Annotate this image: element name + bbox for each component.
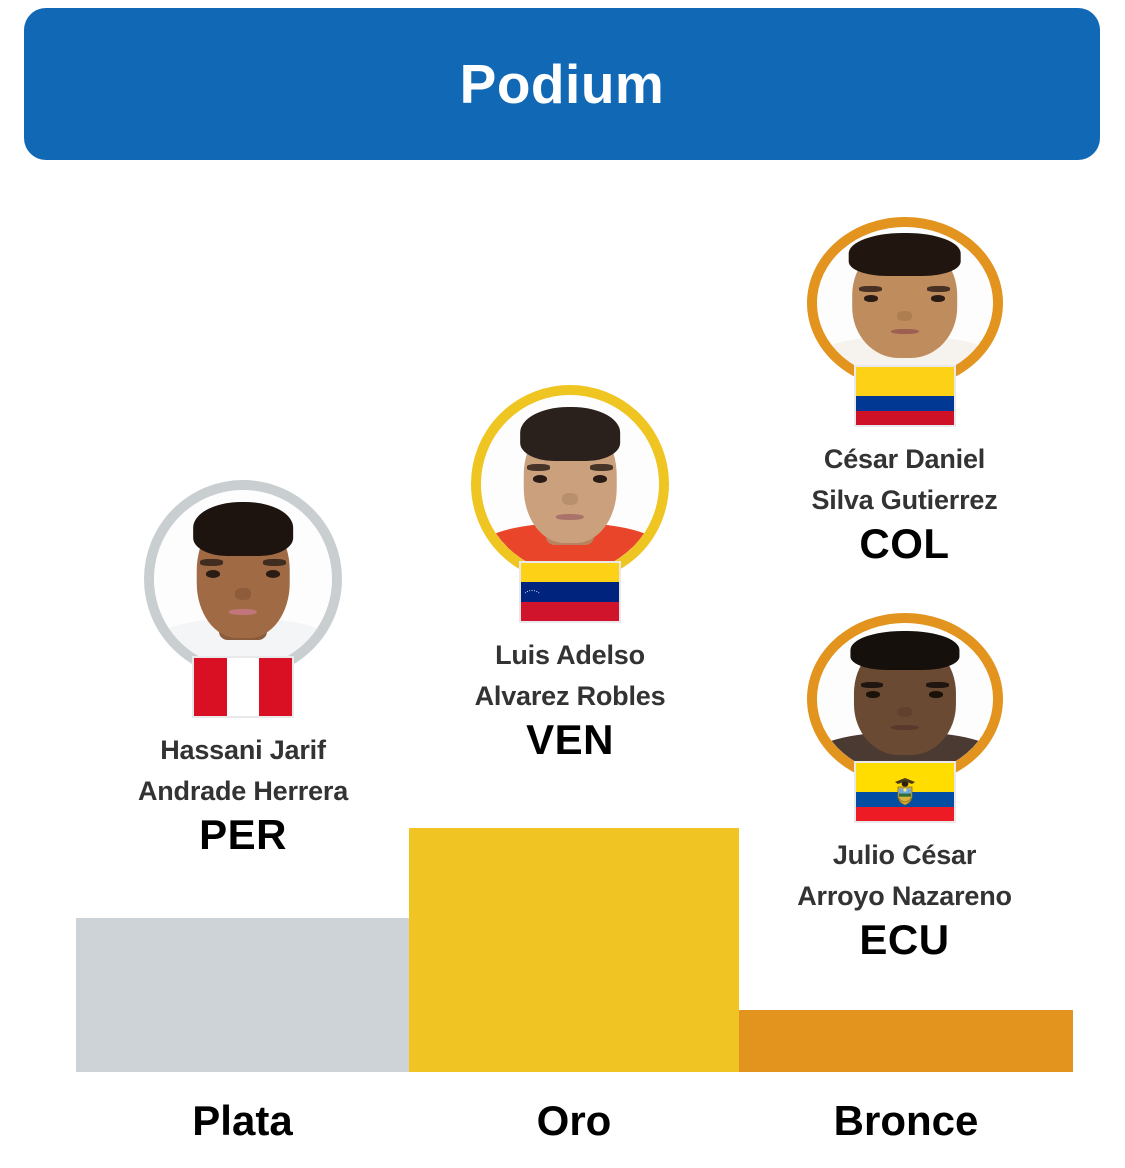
- avatar[interactable]: [807, 613, 1003, 785]
- flag-colombia-icon: [854, 365, 956, 427]
- podium-label-oro: Oro: [409, 1100, 739, 1142]
- photo-mouth: [890, 725, 918, 730]
- podium-page: Podium Plata Oro Bronce: [0, 0, 1125, 1168]
- photo-nose: [562, 493, 578, 505]
- athlete-photo-ven: [481, 395, 659, 573]
- athlete-name-line1: Julio César: [782, 835, 1027, 876]
- athlete-name-line2: Arroyo Nazareno: [782, 876, 1027, 917]
- athlete-country-code: ECU: [782, 916, 1027, 964]
- athlete-name-line2: Alvarez Robles: [445, 676, 695, 717]
- avatar[interactable]: [471, 385, 669, 583]
- photo-hair: [193, 502, 293, 555]
- photo-eyebrow-right: [927, 286, 950, 291]
- avatar[interactable]: [144, 480, 342, 678]
- photo-mouth: [229, 609, 257, 615]
- coat-of-arms-icon: [892, 775, 918, 809]
- avatar-ring-colombia: [807, 217, 1003, 389]
- avatar[interactable]: [807, 217, 1003, 389]
- photo-nose: [897, 311, 913, 322]
- athlete-name-line1: Luis Adelso: [445, 635, 695, 676]
- avatar-ring-silver: [144, 480, 342, 678]
- athlete-name-line1: Hassani Jarif: [118, 730, 368, 771]
- athlete-name-line2: Andrade Herrera: [118, 771, 368, 812]
- photo-hair: [848, 233, 961, 276]
- athlete-card-bronze[interactable]: Julio César Arroyo Nazareno ECU: [782, 613, 1027, 964]
- podium-bar-bronze: [739, 1010, 1073, 1072]
- photo-eye-right: [266, 570, 280, 577]
- page-title: Podium: [460, 57, 665, 112]
- photo-eye-left: [864, 295, 878, 301]
- athlete-photo-per: [154, 490, 332, 668]
- photo-hair: [850, 631, 959, 671]
- athlete-card-colombia[interactable]: César Daniel Silva Gutierrez COL: [782, 217, 1027, 568]
- flag-ecuador-icon: [854, 761, 956, 823]
- athlete-country-code: VEN: [445, 716, 695, 764]
- photo-eyebrow-left: [200, 559, 223, 565]
- podium-bar-silver: [76, 918, 409, 1072]
- athlete-name: César Daniel Silva Gutierrez: [782, 439, 1027, 520]
- flag-venezuela-icon: [519, 561, 621, 623]
- photo-mouth: [556, 514, 584, 520]
- podium-label-plata: Plata: [76, 1100, 409, 1142]
- photo-nose: [235, 588, 251, 600]
- podium-label-bronce: Bronce: [739, 1100, 1073, 1142]
- photo-eye-left: [866, 691, 880, 697]
- page-header: Podium: [24, 8, 1100, 160]
- podium-bar-gold: [409, 828, 739, 1072]
- avatar-ring-bronze: [807, 613, 1003, 785]
- photo-eye-right: [593, 475, 607, 482]
- photo-eyebrow-right: [263, 559, 286, 565]
- athlete-country-code: PER: [118, 811, 368, 859]
- avatar-ring-gold: [471, 385, 669, 583]
- photo-eye-right: [931, 295, 945, 301]
- athlete-name: Julio César Arroyo Nazareno: [782, 835, 1027, 916]
- star-arc-icon: [521, 589, 543, 595]
- athlete-name-line2: Silva Gutierrez: [782, 480, 1027, 521]
- flag-peru-icon: [192, 656, 294, 718]
- photo-eyebrow-left: [861, 682, 884, 687]
- photo-eye-left: [533, 475, 547, 482]
- athlete-name: Hassani Jarif Andrade Herrera: [118, 730, 368, 811]
- athlete-country-code: COL: [782, 520, 1027, 568]
- photo-eye-right: [929, 691, 943, 697]
- photo-nose: [897, 707, 913, 718]
- photo-hair: [520, 407, 620, 460]
- athlete-name-line1: César Daniel: [782, 439, 1027, 480]
- athlete-photo-ecu: [817, 623, 993, 775]
- athlete-name: Luis Adelso Alvarez Robles: [445, 635, 695, 716]
- photo-eye-left: [206, 570, 220, 577]
- photo-eyebrow-left: [527, 464, 550, 470]
- photo-mouth: [890, 329, 918, 334]
- photo-eyebrow-left: [859, 286, 882, 291]
- photo-eyebrow-right: [926, 682, 949, 687]
- athlete-card-gold[interactable]: Luis Adelso Alvarez Robles VEN: [445, 385, 695, 764]
- photo-eyebrow-right: [590, 464, 613, 470]
- athlete-card-silver[interactable]: Hassani Jarif Andrade Herrera PER: [118, 480, 368, 859]
- athlete-photo-col: [817, 227, 993, 379]
